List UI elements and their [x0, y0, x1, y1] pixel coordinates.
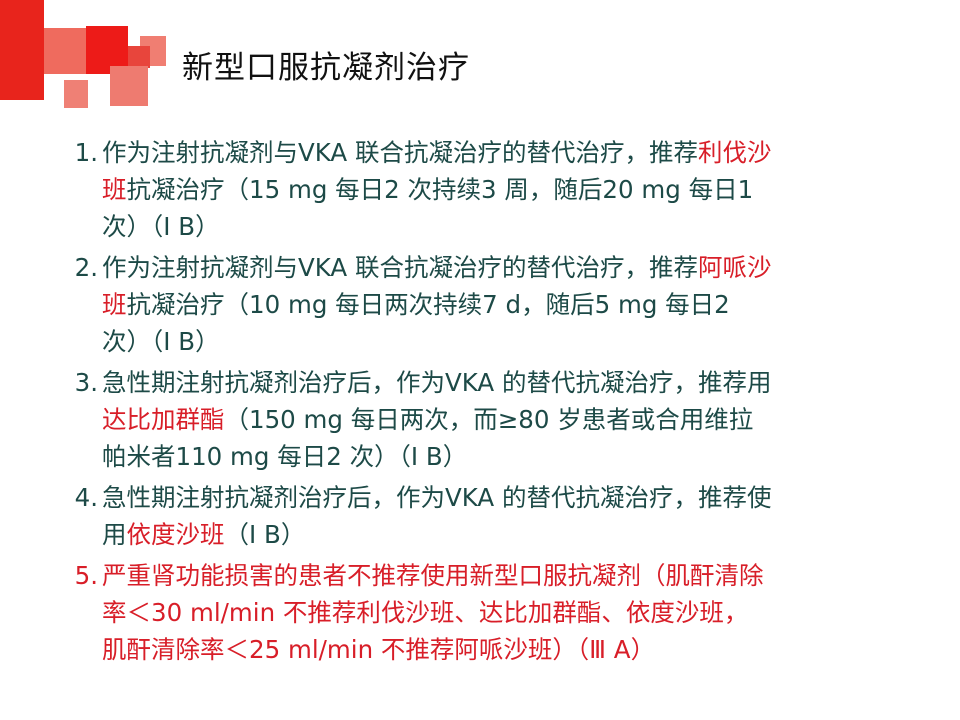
- list-item: 4.急性期注射抗凝剂治疗后，作为VKA 的替代抗凝治疗，推荐使用依度沙班（Ⅰ B…: [66, 479, 946, 553]
- logo-square-lower-mid: [64, 80, 88, 108]
- list-item-number: 2.: [66, 249, 102, 286]
- drug-name-highlight: 班: [102, 290, 127, 319]
- list-item-text: 急性期注射抗凝剂治疗后，作为VKA 的替代抗凝治疗，推荐用达比加群酯（150 m…: [102, 364, 946, 475]
- logo-square-main-bar: [0, 0, 44, 100]
- text-run: 抗凝治疗（15 mg 每日2 次持续3 周，随后20 mg 每日1: [127, 175, 754, 204]
- drug-name-highlight: 利伐沙: [698, 138, 772, 167]
- text-run: 肌酐清除率＜25 ml/min 不推荐阿哌沙班）（Ⅲ A）: [102, 635, 655, 664]
- drug-name-highlight: 班: [102, 175, 127, 204]
- text-run: 率＜30 ml/min 不推荐利伐沙班、达比加群酯、依度沙班，: [102, 598, 748, 627]
- list-item-number: 3.: [66, 364, 102, 401]
- list-item-line: 次）（Ⅰ B）: [102, 323, 946, 360]
- list-item-number: 5.: [66, 557, 102, 594]
- list-item-number: 4.: [66, 479, 102, 516]
- list-item-text: 作为注射抗凝剂与VKA 联合抗凝治疗的替代治疗，推荐阿哌沙班抗凝治疗（10 mg…: [102, 249, 946, 360]
- list-item-number: 1.: [66, 134, 102, 171]
- text-run: 作为注射抗凝剂与VKA 联合抗凝治疗的替代治疗，推荐: [102, 138, 698, 167]
- text-run: （150 mg 每日两次，而≥80 岁患者或合用维拉: [225, 405, 754, 434]
- text-run: 急性期注射抗凝剂治疗后，作为VKA 的替代抗凝治疗，推荐用: [102, 368, 771, 397]
- list-item-text: 严重肾功能损害的患者不推荐使用新型口服抗凝剂（肌酐清除率＜30 ml/min 不…: [102, 557, 946, 668]
- text-run: 抗凝治疗（10 mg 每日两次持续7 d，随后5 mg 每日2: [127, 290, 730, 319]
- text-run: 帕米者110 mg 每日2 次）（Ⅰ B）: [102, 442, 467, 471]
- list-item: 1.作为注射抗凝剂与VKA 联合抗凝治疗的替代治疗，推荐利伐沙班抗凝治疗（15 …: [66, 134, 946, 245]
- list-item: 5.严重肾功能损害的患者不推荐使用新型口服抗凝剂（肌酐清除率＜30 ml/min…: [66, 557, 946, 668]
- drug-name-highlight: 依度沙班: [127, 520, 225, 549]
- list-item-line: 达比加群酯（150 mg 每日两次，而≥80 岁患者或合用维拉: [102, 401, 946, 438]
- list-item-line: 帕米者110 mg 每日2 次）（Ⅰ B）: [102, 438, 946, 475]
- list-item-line: 次）（Ⅰ B）: [102, 208, 946, 245]
- list-item-line: 用依度沙班（Ⅰ B）: [102, 516, 946, 553]
- list-item-text: 急性期注射抗凝剂治疗后，作为VKA 的替代抗凝治疗，推荐使用依度沙班（Ⅰ B）: [102, 479, 946, 553]
- list-item-line: 率＜30 ml/min 不推荐利伐沙班、达比加群酯、依度沙班，: [102, 594, 946, 631]
- list-item-line: 急性期注射抗凝剂治疗后，作为VKA 的替代抗凝治疗，推荐用: [102, 364, 946, 401]
- list-item-line: 肌酐清除率＜25 ml/min 不推荐阿哌沙班）（Ⅲ A）: [102, 631, 946, 668]
- drug-name-highlight: 达比加群酯: [102, 405, 225, 434]
- list-item: 3.急性期注射抗凝剂治疗后，作为VKA 的替代抗凝治疗，推荐用达比加群酯（150…: [66, 364, 946, 475]
- text-run: 次）（Ⅰ B）: [102, 327, 220, 356]
- list-item-line: 急性期注射抗凝剂治疗后，作为VKA 的替代抗凝治疗，推荐使: [102, 479, 946, 516]
- drug-name-highlight: 严重肾功能损害的患者不推荐使用新型口服抗凝剂（肌酐清除: [102, 561, 764, 590]
- list-item-line: 班抗凝治疗（10 mg 每日两次持续7 d，随后5 mg 每日2: [102, 286, 946, 323]
- list-item-line: 严重肾功能损害的患者不推荐使用新型口服抗凝剂（肌酐清除: [102, 557, 946, 594]
- list-item-text: 作为注射抗凝剂与VKA 联合抗凝治疗的替代治疗，推荐利伐沙班抗凝治疗（15 mg…: [102, 134, 946, 245]
- logo-square-tiny-top-two: [128, 46, 150, 68]
- list-item-line: 作为注射抗凝剂与VKA 联合抗凝治疗的替代治疗，推荐阿哌沙: [102, 249, 946, 286]
- red-squares-logo: [0, 0, 140, 110]
- text-run: （Ⅰ B）: [225, 520, 306, 549]
- text-run: 作为注射抗凝剂与VKA 联合抗凝治疗的替代治疗，推荐: [102, 253, 698, 282]
- logo-square-upper-left: [44, 28, 86, 74]
- recommendation-list: 1.作为注射抗凝剂与VKA 联合抗凝治疗的替代治疗，推荐利伐沙班抗凝治疗（15 …: [66, 134, 946, 670]
- text-run: 用: [102, 520, 127, 549]
- list-item-line: 班抗凝治疗（15 mg 每日2 次持续3 周，随后20 mg 每日1: [102, 171, 946, 208]
- text-run: 急性期注射抗凝剂治疗后，作为VKA 的替代抗凝治疗，推荐使: [102, 483, 771, 512]
- text-run: 次）（Ⅰ B）: [102, 212, 220, 241]
- list-item-line: 作为注射抗凝剂与VKA 联合抗凝治疗的替代治疗，推荐利伐沙: [102, 134, 946, 171]
- logo-square-lower-right: [110, 66, 148, 106]
- drug-name-highlight: 阿哌沙: [698, 253, 772, 282]
- list-item: 2.作为注射抗凝剂与VKA 联合抗凝治疗的替代治疗，推荐阿哌沙班抗凝治疗（10 …: [66, 249, 946, 360]
- slide-title: 新型口服抗凝剂治疗: [182, 48, 470, 88]
